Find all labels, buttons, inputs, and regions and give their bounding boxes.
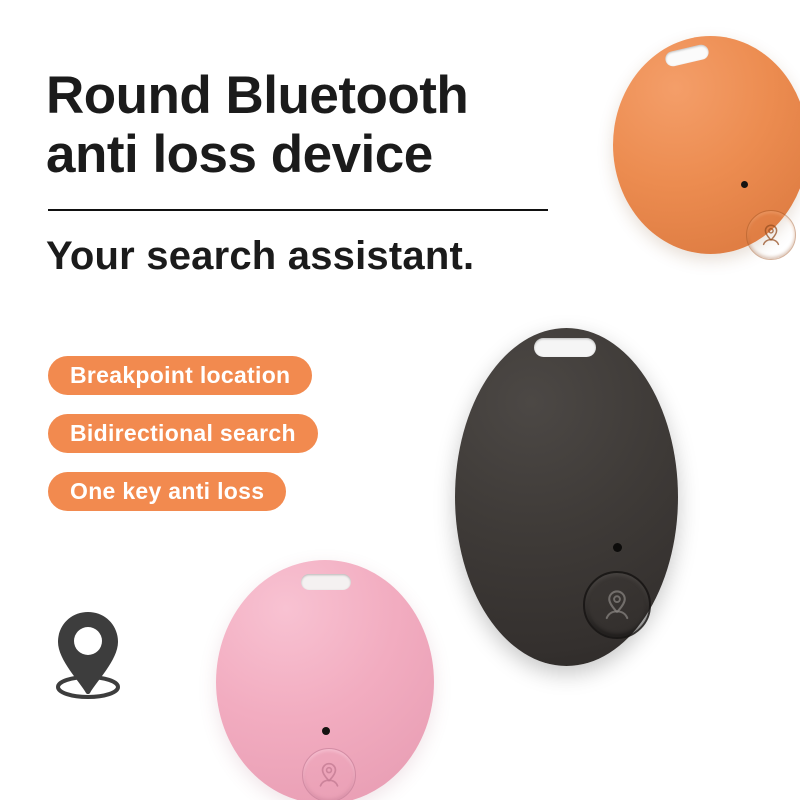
feature-pill-one-key-anti-loss: One key anti loss <box>48 472 286 511</box>
location-person-logo-icon <box>758 222 784 248</box>
keyring-slot <box>301 574 351 590</box>
device-orange-tracker <box>613 36 800 254</box>
feature-pill-breakpoint-location: Breakpoint location <box>48 356 312 395</box>
location-person-logo-icon <box>599 587 635 623</box>
device-button <box>583 571 651 639</box>
device-button <box>302 748 356 800</box>
product-marketing-banner: Round Bluetooth anti loss device Your se… <box>0 0 800 800</box>
map-pin-icon <box>42 604 134 700</box>
title-divider <box>48 209 548 211</box>
microphone-dot <box>322 727 330 735</box>
microphone-dot <box>613 543 622 552</box>
feature-pill-bidirectional-search: Bidirectional search <box>48 414 318 453</box>
device-pink-tracker <box>216 560 434 800</box>
page-title: Round Bluetooth anti loss device <box>46 66 626 185</box>
subtitle: Your search assistant. <box>46 234 646 279</box>
microphone-dot <box>741 181 748 188</box>
device-black-tracker <box>455 328 678 666</box>
location-person-logo-icon <box>314 760 344 790</box>
device-button <box>746 210 796 260</box>
keyring-slot <box>534 338 596 357</box>
feature-list: Breakpoint location Bidirectional search… <box>48 356 318 511</box>
